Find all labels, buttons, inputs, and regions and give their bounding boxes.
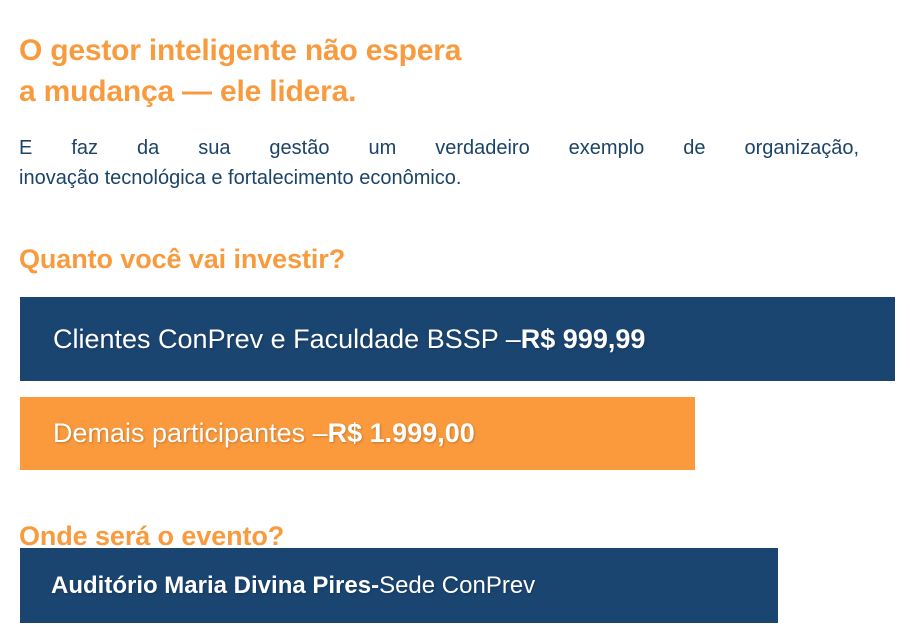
intro-paragraph: E faz da sua gestão um verdadeiro exempl… [19,133,859,193]
slide-canvas: O gestor inteligente não espera a mudanç… [0,0,910,629]
price-bar-clientes-label: Clientes ConPrev e Faculdade BSSP – [53,324,521,355]
page-title-line-2: a mudança — ele lidera. [19,71,879,112]
price-bar-clientes: Clientes ConPrev e Faculdade BSSP – R$ 9… [20,297,895,381]
page-title: O gestor inteligente não espera a mudanç… [19,30,879,112]
price-bar-demais-amount: R$ 1.999,00 [328,418,475,449]
section-heading-investment: Quanto você vai investir? [19,244,345,275]
venue-name: Auditório Maria Divina Pires [51,572,371,600]
venue-separator: - [371,572,379,600]
price-bar-demais-label: Demais participantes – [53,418,328,449]
price-bar-demais: Demais participantes – R$ 1.999,00 [20,397,695,470]
intro-paragraph-line-1: E faz da sua gestão um verdadeiro exempl… [19,133,859,163]
price-bar-clientes-amount: R$ 999,99 [521,324,646,355]
venue-bar: Auditório Maria Divina Pires - Sede ConP… [20,548,778,623]
intro-paragraph-line-2: inovação tecnológica e fortalecimento ec… [19,163,859,193]
page-title-line-1: O gestor inteligente não espera [19,30,879,71]
venue-place: Sede ConPrev [379,572,535,600]
